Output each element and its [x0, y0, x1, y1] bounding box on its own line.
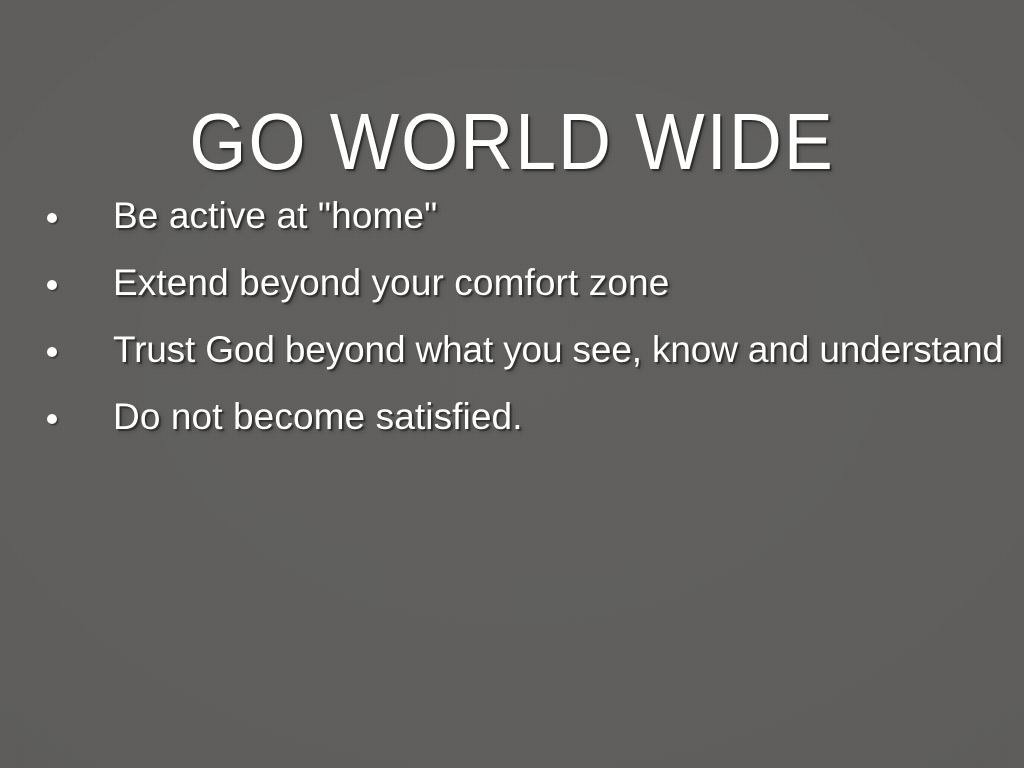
list-item: Do not become satisfied.	[0, 397, 1024, 464]
bullet-item-label: Do not become satisfied.	[113, 397, 523, 437]
bullet-list: Be active at "home" Extend beyond your c…	[0, 196, 1024, 464]
bullet-item-label: Be active at "home"	[113, 196, 437, 236]
bullet-point-icon	[47, 280, 57, 290]
list-item: Be active at "home"	[0, 196, 1024, 263]
bullet-item-label: Trust God beyond what you see, know and …	[113, 330, 1003, 370]
bullet-item-label: Extend beyond your comfort zone	[113, 263, 669, 303]
bullet-point-icon	[47, 414, 57, 424]
list-item: Trust God beyond what you see, know and …	[0, 330, 1024, 397]
bullet-point-icon	[47, 347, 57, 357]
presentation-slide: GO WORLD WIDE Be active at "home" Extend…	[0, 0, 1024, 768]
bullet-point-icon	[47, 213, 57, 223]
list-item: Extend beyond your comfort zone	[0, 263, 1024, 330]
slide-title: GO WORLD WIDE	[41, 102, 983, 182]
